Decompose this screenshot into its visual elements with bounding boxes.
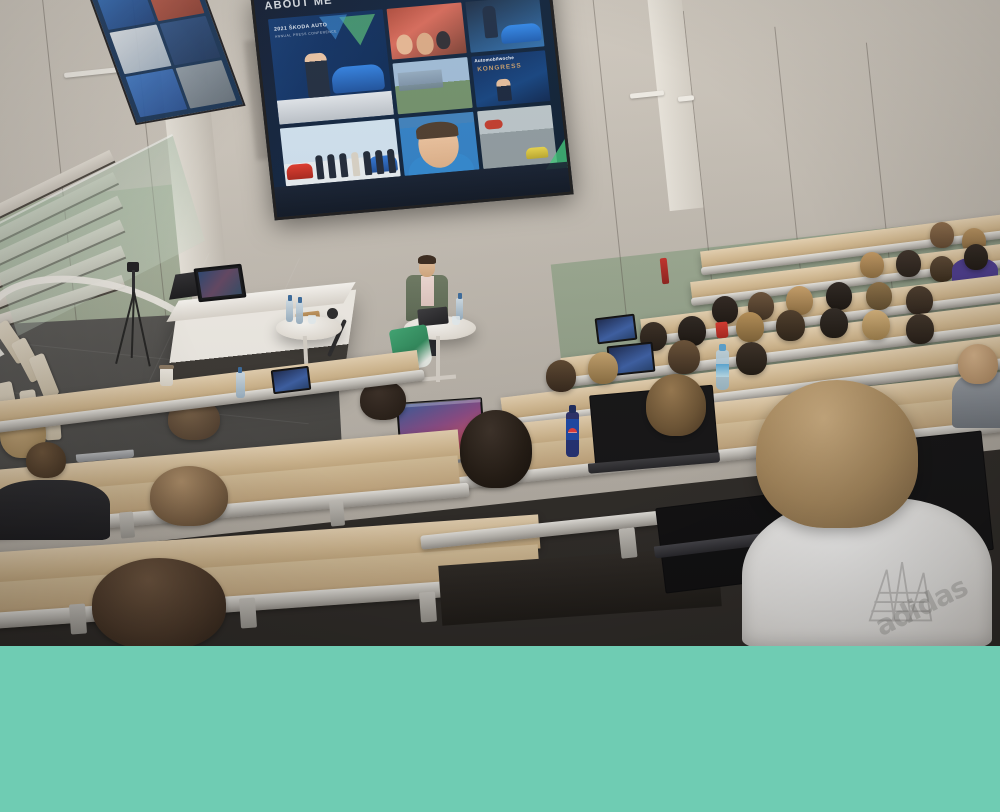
desk-post xyxy=(618,527,637,559)
desk-post xyxy=(69,603,87,634)
red-cup xyxy=(715,322,728,339)
pepsi-bottle xyxy=(566,412,579,457)
laptop-screen xyxy=(595,314,638,345)
audience-head xyxy=(546,360,576,392)
speaker-hair xyxy=(418,255,436,264)
audience-head xyxy=(964,244,988,270)
kongress-publication: Automobilwoche xyxy=(474,55,514,63)
speaker-shirt xyxy=(421,276,434,306)
audience-head xyxy=(906,314,934,344)
projection-screen: ABOUT ME 2021 ŠKODA AUTO ANNUAL PRESS CO… xyxy=(250,0,573,220)
slide-photo-collage: 2021 ŠKODA AUTO ANNUAL PRESS CONFERENCE xyxy=(268,0,557,186)
audience-head xyxy=(776,310,805,341)
laptop-screen xyxy=(271,366,312,394)
audience-head xyxy=(826,282,852,310)
drinking-glass xyxy=(308,315,316,324)
audience-head xyxy=(860,252,884,278)
lecture-hall-photo: ABOUT ME 2021 ŠKODA AUTO ANNUAL PRESS CO… xyxy=(0,0,1000,646)
collage-tile-selfie xyxy=(399,111,479,176)
desk-post xyxy=(239,597,257,628)
coffee-cup xyxy=(160,368,173,386)
audience-head-foreground xyxy=(756,380,918,528)
audience-arm xyxy=(958,344,998,384)
presentation-slide: ABOUT ME 2021 ŠKODA AUTO ANNUAL PRESS CO… xyxy=(254,0,571,217)
water-bottle xyxy=(296,302,303,324)
audience-head xyxy=(820,308,848,338)
collage-tile-crowd xyxy=(387,2,467,59)
audience-head-foreground xyxy=(92,558,226,646)
audience-head xyxy=(646,374,706,436)
caption-banner: Lecture by Thomas Schäfer, CEO of Škoda … xyxy=(0,646,1000,812)
lecture-announcement-card: ABOUT ME 2021 ŠKODA AUTO ANNUAL PRESS CO… xyxy=(0,0,1000,812)
water-bottle xyxy=(716,350,729,390)
audience-head xyxy=(866,282,892,310)
collage-tile-car-reveal xyxy=(465,0,545,53)
audience-head xyxy=(712,296,738,324)
collage-tile-cityscape xyxy=(393,57,473,114)
audience-head xyxy=(930,256,954,282)
audience-head xyxy=(896,250,921,277)
desk-post xyxy=(329,499,345,526)
audience-head-foreground xyxy=(460,410,532,488)
audience-head xyxy=(26,442,66,478)
slide-title: ABOUT ME xyxy=(264,0,333,12)
audience-head xyxy=(588,352,618,384)
audience-head xyxy=(150,466,228,526)
audience-head xyxy=(736,312,764,342)
audience-head xyxy=(736,342,767,375)
audience-head xyxy=(668,340,700,374)
audience-head xyxy=(906,286,933,315)
water-bottle xyxy=(286,300,293,322)
water-bottle xyxy=(236,372,245,398)
desk-post xyxy=(419,591,437,622)
audience-torso xyxy=(0,480,110,540)
collage-tile-kongress: Automobilwoche KONGRESS xyxy=(471,50,551,107)
audience-head xyxy=(930,222,954,248)
desk-post xyxy=(119,511,135,538)
lectern-monitor xyxy=(193,264,246,303)
kongress-event: KONGRESS xyxy=(477,62,522,73)
collage-tile-group-photo xyxy=(280,118,401,186)
tablet-device xyxy=(417,306,449,326)
microphone-head xyxy=(327,308,338,319)
collage-tile-press-conference: 2021 ŠKODA AUTO ANNUAL PRESS CONFERENCE xyxy=(268,9,394,124)
drinking-glass xyxy=(452,316,460,325)
audience-head xyxy=(862,310,890,340)
